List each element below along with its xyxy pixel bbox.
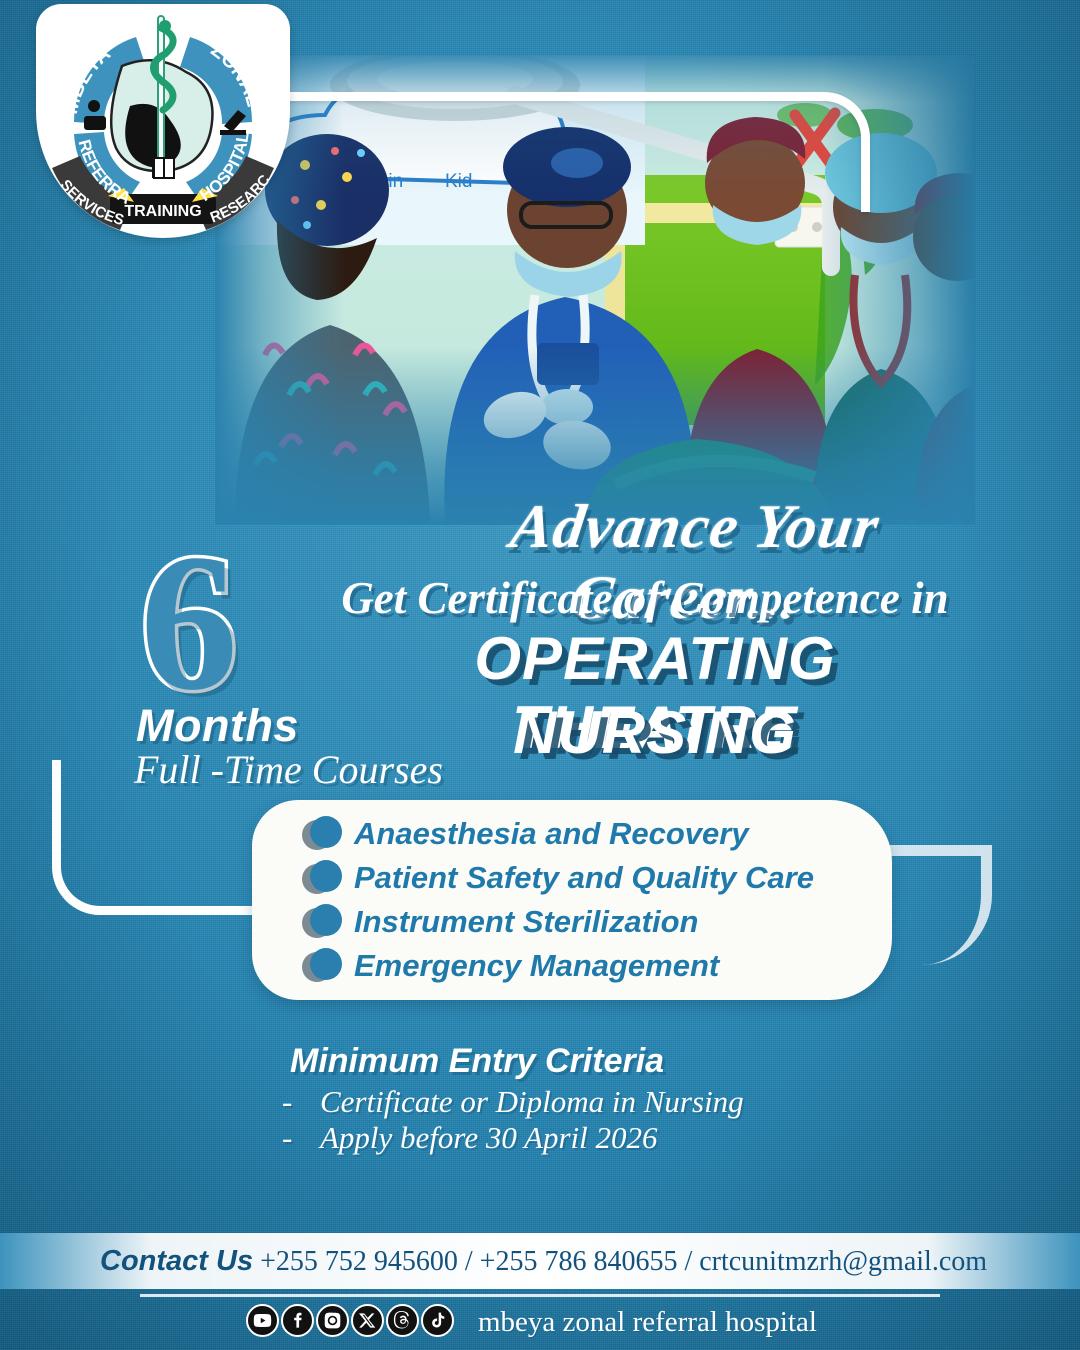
module-label: Instrument Sterilization: [354, 904, 698, 940]
entry-marker: -: [282, 1120, 320, 1156]
hospital-logo: MBEYA ZONAL REFERRAL HOSPITAL SERVICES R…: [36, 4, 290, 238]
youtube-icon[interactable]: [246, 1304, 279, 1337]
duration-unit: Months: [136, 700, 299, 752]
contact-label: Contact Us: [100, 1245, 253, 1277]
list-item: Patient Safety and Quality Care: [302, 856, 902, 900]
headline-subtitle: Get Certificate of Competence in: [315, 572, 975, 624]
module-label: Patient Safety and Quality Care: [354, 860, 814, 896]
bullet-circle-icon: [302, 902, 354, 942]
list-item: Emergency Management: [302, 944, 902, 988]
entry-label: Certificate or Diploma in Nursing: [320, 1084, 744, 1119]
module-label: Emergency Management: [354, 948, 719, 984]
facebook-icon[interactable]: [281, 1304, 314, 1337]
duration-mode: Full -Time Courses: [134, 746, 443, 793]
poster-canvas: eTrain Kid: [0, 0, 1080, 1350]
entry-marker: -: [282, 1084, 320, 1120]
entry-criteria-title: Minimum Entry Criteria: [290, 1042, 664, 1081]
footer-divider: [140, 1294, 940, 1297]
bullet-circle-icon: [302, 858, 354, 898]
duration-number: 6: [140, 540, 238, 707]
modules-list: Anaesthesia and Recovery Patient Safety …: [302, 812, 902, 988]
x-icon[interactable]: [351, 1304, 384, 1337]
list-item: Anaesthesia and Recovery: [302, 812, 902, 856]
social-links[interactable]: [246, 1304, 454, 1337]
entry-criteria-item: -Certificate or Diploma in Nursing: [282, 1084, 744, 1120]
threads-icon[interactable]: [386, 1304, 419, 1337]
bullet-circle-icon: [302, 814, 354, 854]
bullet-circle-icon: [302, 946, 354, 986]
tiktok-icon[interactable]: [421, 1304, 454, 1337]
module-label: Anaesthesia and Recovery: [354, 816, 749, 852]
contact-bar: Contact Us +255 752 945600 / +255 786 84…: [0, 1233, 1080, 1289]
logo-text-training: TRAINING: [124, 203, 201, 220]
decorative-frame-top: [250, 92, 870, 212]
footer-handle: mbeya zonal referral hospital: [478, 1306, 817, 1339]
entry-label: Apply before 30 April 2026: [320, 1120, 658, 1155]
instagram-icon[interactable]: [316, 1304, 349, 1337]
entry-criteria-item: -Apply before 30 April 2026: [282, 1120, 658, 1156]
contact-details[interactable]: +255 752 945600 / +255 786 840655 / crtc…: [253, 1246, 987, 1277]
list-item: Instrument Sterilization: [302, 900, 902, 944]
